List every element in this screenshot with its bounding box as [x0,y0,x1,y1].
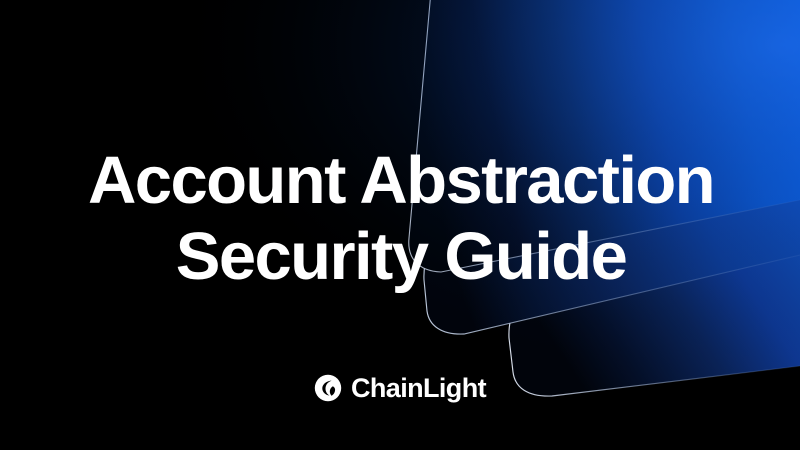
page-title: Account Abstraction Security Guide [0,143,800,295]
page-title-line-1: Account Abstraction [0,143,800,219]
brand-lockup: ChainLight [0,374,800,402]
slide-canvas: Account Abstraction Security Guide Chain… [0,0,800,450]
chainlight-logo-icon [314,374,342,402]
page-title-line-2: Security Guide [0,219,800,295]
brand-name: ChainLight [351,374,486,402]
